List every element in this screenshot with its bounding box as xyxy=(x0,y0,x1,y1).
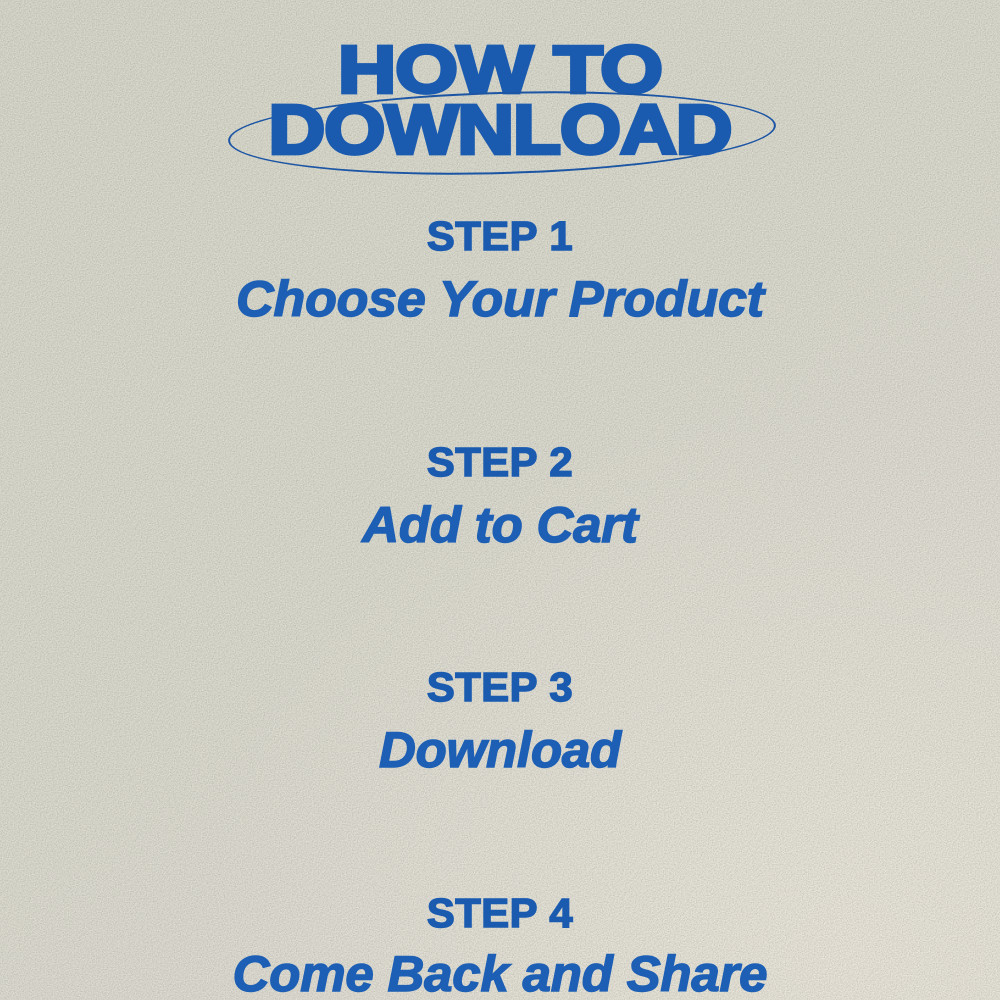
steps-list: STEP 1 Choose Your Product STEP 2 Add to… xyxy=(0,196,1000,1000)
step-1-title: Choose Your Product xyxy=(0,257,1000,324)
title-line-download: DOWNLOAD xyxy=(0,96,1000,165)
how-to-download-poster: HOW TO DOWNLOAD STEP 1 Choose Your Produ… xyxy=(0,0,1000,1000)
step-3-label: STEP 3 xyxy=(0,549,1000,708)
step-4-title-line-1: Come Back and Share xyxy=(0,950,1000,999)
step-item-1: STEP 1 Choose Your Product xyxy=(0,196,1000,324)
step-2-title: Add to Cart xyxy=(0,483,1000,550)
step-1-title-line-1: Choose Your Product xyxy=(0,275,1000,324)
step-item-2: STEP 2 Add to Cart xyxy=(0,324,1000,550)
page-title: HOW TO DOWNLOAD xyxy=(0,0,1000,200)
step-1-label: STEP 1 xyxy=(0,196,1000,257)
step-2-label: STEP 2 xyxy=(0,324,1000,483)
step-3-title: Download xyxy=(0,708,1000,775)
step-4-title: Come Back and Share Your Experience xyxy=(0,934,1000,1000)
step-item-3: STEP 3 Download xyxy=(0,549,1000,775)
step-item-4: STEP 4 Come Back and Share Your Experien… xyxy=(0,775,1000,1000)
step-4-label: STEP 4 xyxy=(0,775,1000,934)
step-3-title-line-1: Download xyxy=(0,726,1000,775)
step-2-title-line-1: Add to Cart xyxy=(0,501,1000,550)
